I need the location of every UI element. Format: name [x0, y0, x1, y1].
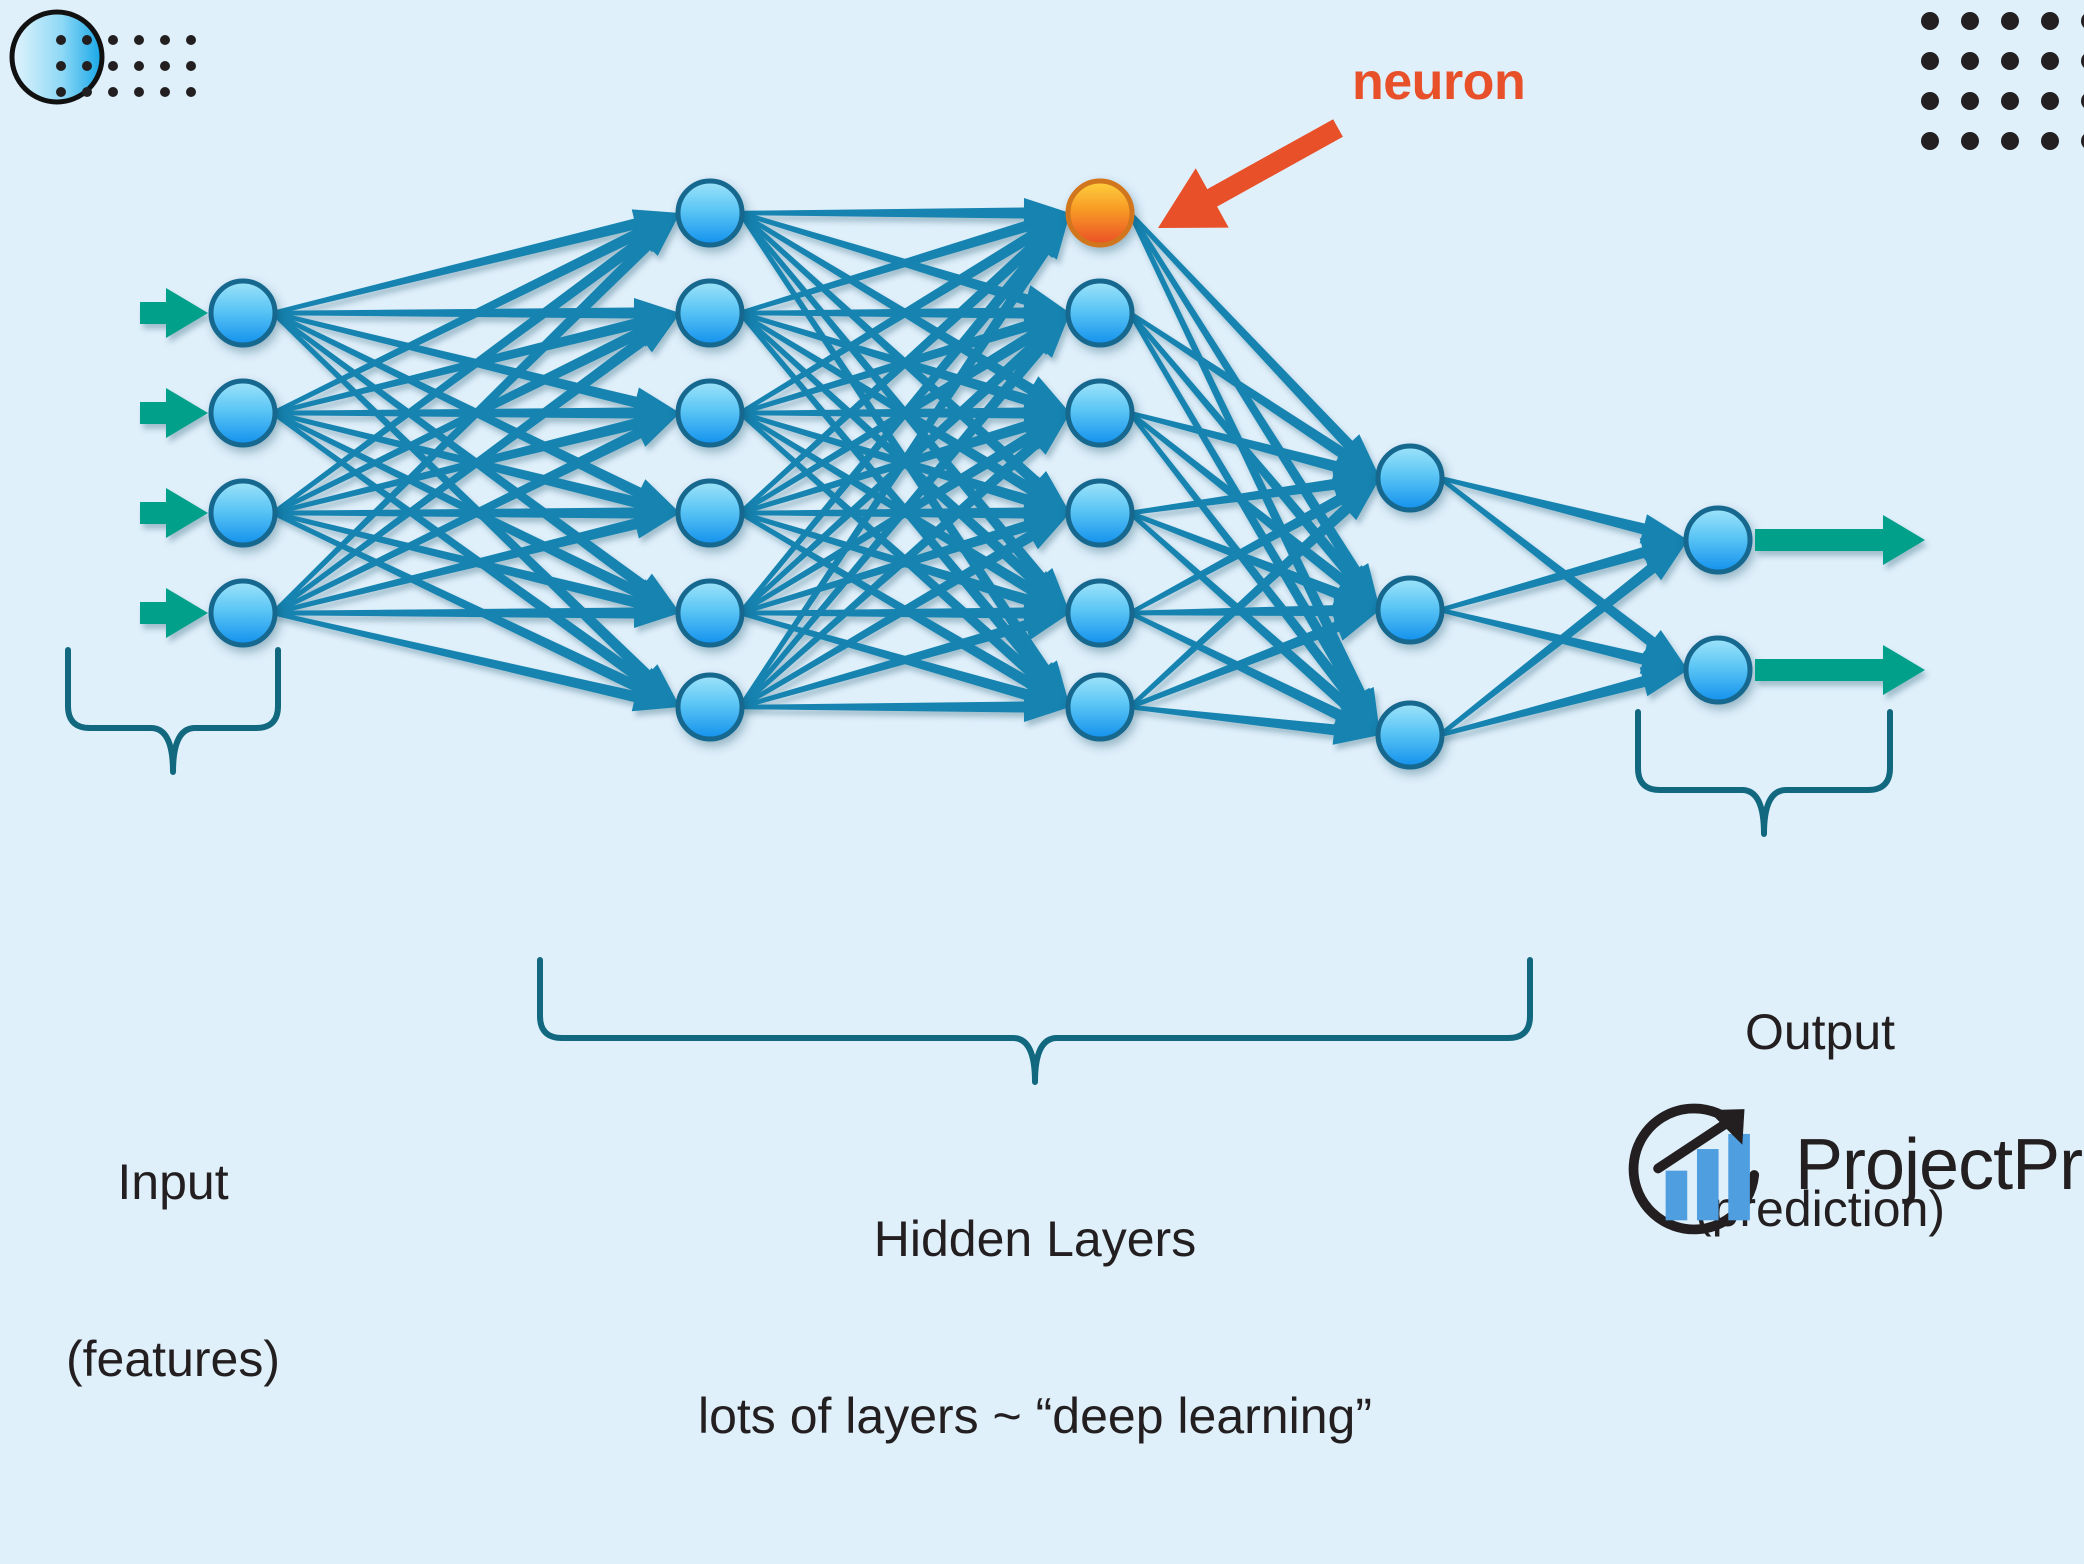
input-label-line2: (features) [0, 1330, 346, 1389]
projectpro-wordmark: ProjectPro [1795, 1124, 2084, 1206]
projectpro-logo-icon [0, 0, 2084, 1250]
hidden-label-line2: lots of layers ~ “deep learning” [330, 1387, 1740, 1446]
diagram-canvas: neuron Input (features) Hidden Layers lo… [0, 0, 2084, 1250]
